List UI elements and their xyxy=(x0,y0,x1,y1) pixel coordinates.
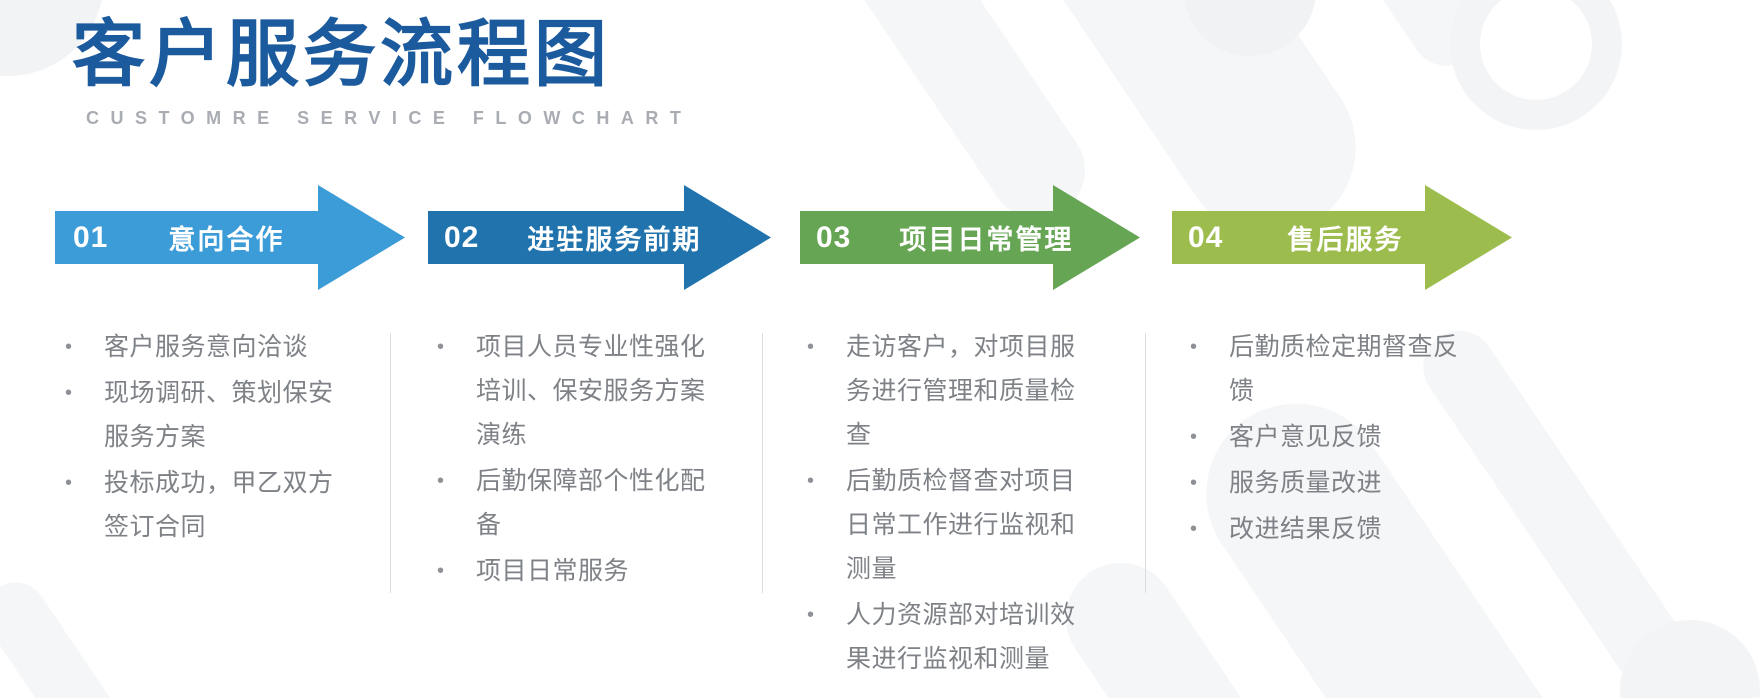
list-item-label: 项目日常服务 xyxy=(476,549,629,593)
step-number-01: 01 xyxy=(73,221,108,255)
bullet-dot-icon: • xyxy=(1185,415,1229,459)
process-arrow-row: 01 意向合作 02 进驻服务前期 03 项目日常管理 04 售后服务 xyxy=(0,185,1763,290)
bullet-dot-icon: • xyxy=(1185,507,1229,551)
bullet-list-03: • 走访客户，对项目服务进行管理和质量检查 • 后勤质检督查对项目日常工作进行监… xyxy=(802,325,1132,681)
list-item: • 走访客户，对项目服务进行管理和质量检查 xyxy=(802,325,1132,457)
step-label-04: 售后服务 xyxy=(1287,218,1403,257)
list-item-label: 服务质量改进 xyxy=(1229,461,1382,505)
list-item: • 项目人员专业性强化培训、保安服务方案演练 xyxy=(432,325,762,457)
list-item-label: 项目人员专业性强化培训、保安服务方案演练 xyxy=(476,325,709,457)
page-title: 客户服务流程图 xyxy=(72,14,692,96)
detail-column-03: • 走访客户，对项目服务进行管理和质量检查 • 后勤质检督查对项目日常工作进行监… xyxy=(802,325,1132,683)
bullet-dot-icon: • xyxy=(1185,461,1229,505)
bullet-list-02: • 项目人员专业性强化培训、保安服务方案演练 • 后勤保障部个性化配备 • 项目… xyxy=(432,325,762,593)
detail-columns: • 客户服务意向洽谈 • 现场调研、策划保安服务方案 • 投标成功，甲乙双方签订… xyxy=(0,325,1763,625)
step-number-03: 03 xyxy=(816,221,851,255)
list-item: • 项目日常服务 xyxy=(432,549,762,593)
list-item-label: 走访客户，对项目服务进行管理和质量检查 xyxy=(846,325,1091,457)
list-item-label: 后勤质检定期督查反馈 xyxy=(1229,325,1479,413)
list-item: • 后勤保障部个性化配备 xyxy=(432,459,762,547)
step-label-03: 项目日常管理 xyxy=(899,218,1073,257)
bullet-dot-icon: • xyxy=(60,461,104,505)
detail-column-02: • 项目人员专业性强化培训、保安服务方案演练 • 后勤保障部个性化配备 • 项目… xyxy=(432,325,762,595)
bullet-dot-icon: • xyxy=(60,371,104,415)
list-item: • 服务质量改进 xyxy=(1185,461,1525,505)
list-item-label: 人力资源部对培训效果进行监视和测量 xyxy=(846,593,1091,681)
step-number-02: 02 xyxy=(444,221,479,255)
bullet-dot-icon: • xyxy=(802,593,846,637)
column-divider xyxy=(762,333,763,593)
bullet-dot-icon: • xyxy=(432,459,476,503)
list-item: • 客户服务意向洽谈 xyxy=(60,325,380,369)
list-item-label: 后勤质检督查对项目日常工作进行监视和测量 xyxy=(846,459,1091,591)
list-item: • 后勤质检督查对项目日常工作进行监视和测量 xyxy=(802,459,1132,591)
detail-column-01: • 客户服务意向洽谈 • 现场调研、策划保安服务方案 • 投标成功，甲乙双方签订… xyxy=(60,325,380,551)
bullet-dot-icon: • xyxy=(432,325,476,369)
column-divider xyxy=(1145,333,1146,593)
list-item: • 现场调研、策划保安服务方案 xyxy=(60,371,380,459)
step-label-01: 意向合作 xyxy=(168,218,284,257)
bullet-dot-icon: • xyxy=(802,459,846,503)
page-subtitle: CUSTOMRE SERVICE FLOWCHART xyxy=(86,108,692,129)
detail-column-04: • 后勤质检定期督查反馈 • 客户意见反馈 • 服务质量改进 • 改进结果反馈 xyxy=(1185,325,1525,553)
step-number-04: 04 xyxy=(1188,221,1223,255)
bullet-dot-icon: • xyxy=(802,325,846,369)
bullet-dot-icon: • xyxy=(1185,325,1229,369)
list-item: • 客户意见反馈 xyxy=(1185,415,1525,459)
step-label-02: 进驻服务前期 xyxy=(527,218,701,257)
list-item-label: 客户意见反馈 xyxy=(1229,415,1382,459)
list-item-label: 后勤保障部个性化配备 xyxy=(476,459,709,547)
list-item-label: 现场调研、策划保安服务方案 xyxy=(104,371,337,459)
list-item: • 投标成功，甲乙双方签订合同 xyxy=(60,461,380,549)
bullet-dot-icon: • xyxy=(60,325,104,369)
list-item: • 后勤质检定期督查反馈 xyxy=(1185,325,1525,413)
bullet-list-01: • 客户服务意向洽谈 • 现场调研、策划保安服务方案 • 投标成功，甲乙双方签订… xyxy=(60,325,380,549)
list-item: • 人力资源部对培训效果进行监视和测量 xyxy=(802,593,1132,681)
column-divider xyxy=(390,333,391,593)
bullet-dot-icon: • xyxy=(432,549,476,593)
list-item: • 改进结果反馈 xyxy=(1185,507,1525,551)
list-item-label: 客户服务意向洽谈 xyxy=(104,325,308,369)
list-item-label: 投标成功，甲乙双方签订合同 xyxy=(104,461,337,549)
bullet-list-04: • 后勤质检定期督查反馈 • 客户意见反馈 • 服务质量改进 • 改进结果反馈 xyxy=(1185,325,1525,551)
list-item-label: 改进结果反馈 xyxy=(1229,507,1382,551)
header: 客户服务流程图 CUSTOMRE SERVICE FLOWCHART xyxy=(72,14,692,129)
